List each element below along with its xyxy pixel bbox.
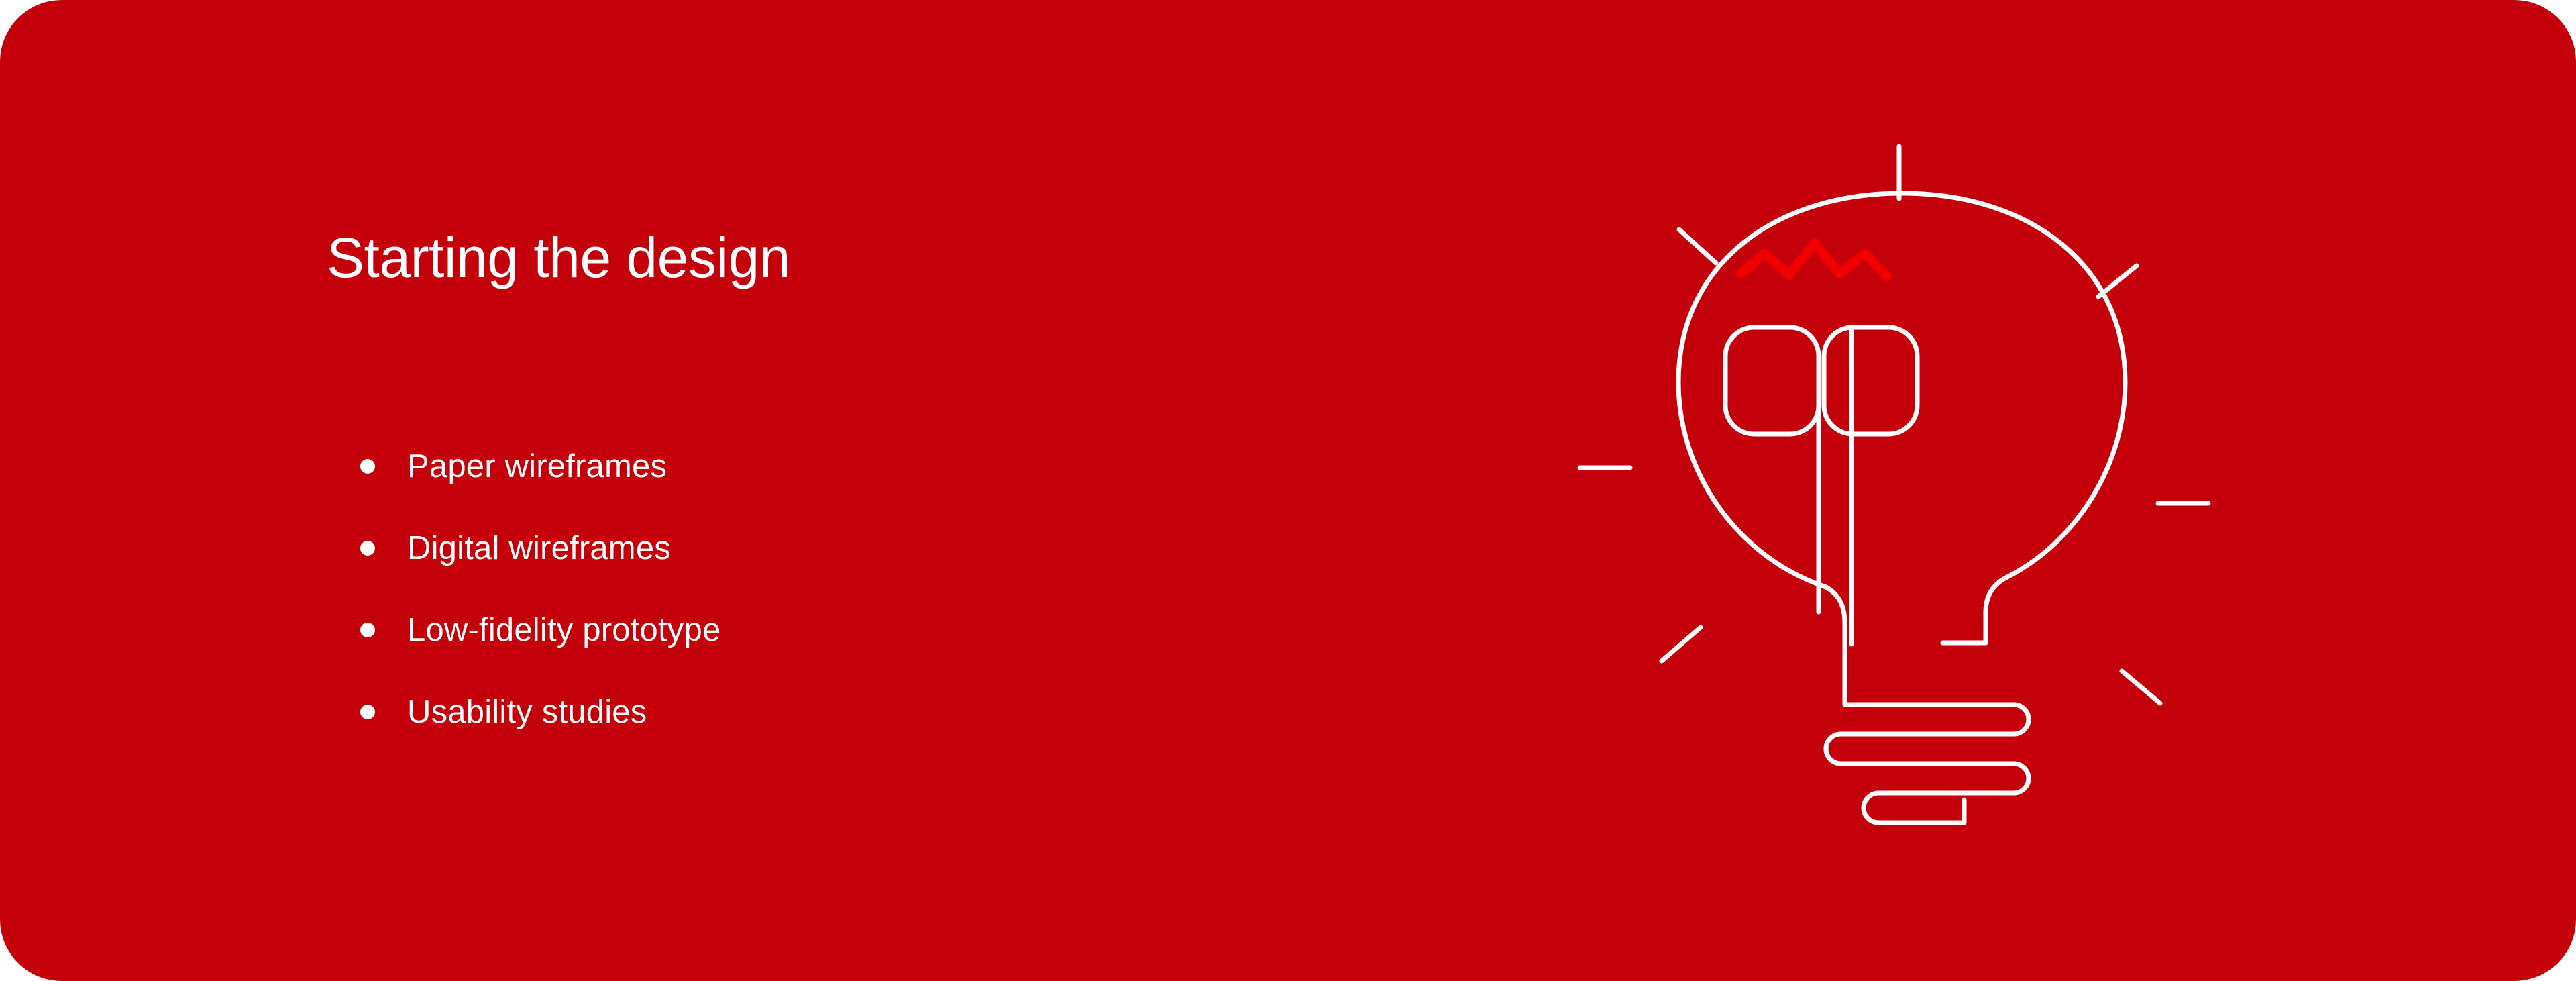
list-item-label: Digital wireframes bbox=[407, 529, 671, 567]
lightbulb-icon bbox=[1563, 114, 2241, 866]
bullet-dot-icon bbox=[360, 623, 375, 637]
spark-zigzag-icon bbox=[1741, 243, 1887, 276]
list-item-label: Paper wireframes bbox=[407, 448, 667, 485]
bullet-list: Paper wireframes Digital wireframes Low-… bbox=[360, 425, 720, 753]
ray-upper-left-icon bbox=[1679, 229, 1716, 263]
bullet-dot-icon bbox=[360, 541, 375, 556]
page-title: Starting the design bbox=[327, 228, 790, 287]
slide-card: Starting the design Paper wireframes Dig… bbox=[0, 0, 2576, 981]
ray-lower-left-icon bbox=[1662, 627, 1701, 661]
bullet-dot-icon bbox=[360, 459, 375, 474]
bulb-globe-icon bbox=[1678, 193, 2125, 643]
list-item-label: Low-fidelity prototype bbox=[407, 611, 720, 649]
filament-left-icon bbox=[1725, 327, 1819, 434]
content-column: Starting the design Paper wireframes Dig… bbox=[327, 0, 1467, 981]
ray-lower-right-icon bbox=[2122, 671, 2160, 703]
screw-base-icon bbox=[1826, 705, 2029, 823]
list-item: Usability studies bbox=[360, 671, 720, 753]
list-item: Paper wireframes bbox=[360, 425, 720, 507]
bullet-dot-icon bbox=[360, 705, 375, 719]
list-item: Digital wireframes bbox=[360, 507, 720, 589]
filament-right-icon bbox=[1824, 327, 1917, 434]
list-item-label: Usability studies bbox=[407, 693, 647, 731]
list-item: Low-fidelity prototype bbox=[360, 589, 720, 671]
